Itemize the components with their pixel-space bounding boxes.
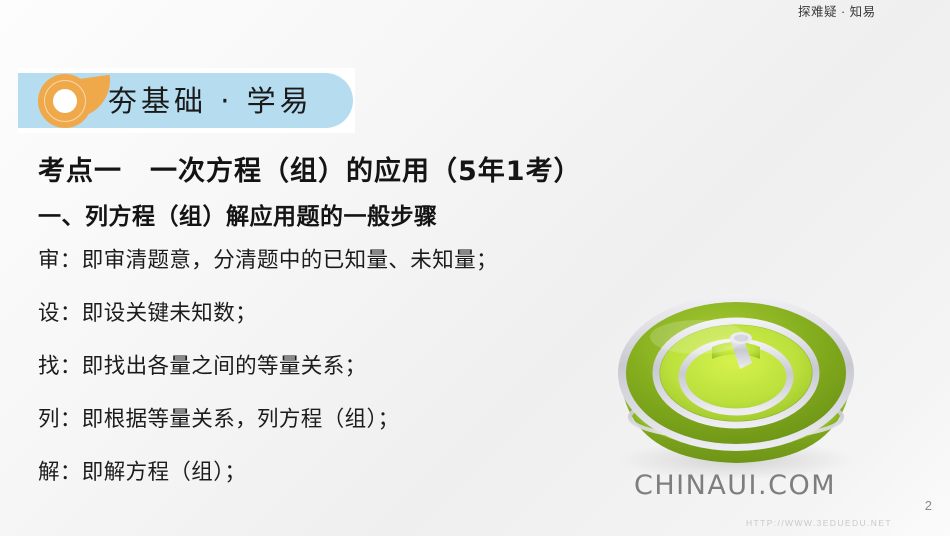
chinaui-caption: CHINAUI.COM	[590, 470, 880, 501]
step-line: 列：即根据等量关系，列方程（组）；	[38, 402, 658, 433]
site-watermark: HTTP://WWW.3EDUEDU.NET	[746, 518, 892, 528]
step-line: 审：即审清题意，分清题中的已知量、未知量；	[38, 243, 658, 274]
banner-marker-hole-icon	[53, 89, 77, 113]
page-title: 考点一 一次方程（组）的应用（5年1考）	[38, 149, 658, 188]
content-body: 考点一 一次方程（组）的应用（5年1考） 一、列方程（组）解应用题的一般步骤 审…	[38, 149, 658, 486]
slide-canvas: 探难疑 · 知易 夯基础 · 学易 考点一 一次方程（组）的应用（5年1考） 一…	[0, 0, 950, 536]
power-button-bowl-icon	[590, 285, 880, 485]
page-number: 2	[925, 498, 932, 513]
step-line: 设：即设关键未知数；	[38, 296, 658, 327]
chinaui-graphic: CHINAUI.COM	[590, 285, 880, 515]
step-line: 找：即找出各量之间的等量关系；	[38, 349, 658, 380]
section-subheading: 一、列方程（组）解应用题的一般步骤	[38, 197, 658, 231]
step-line: 解：即解方程（组）；	[38, 455, 658, 486]
corner-section-label: 探难疑 · 知易	[798, 4, 894, 21]
banner-title: 夯基础 · 学易	[108, 74, 313, 128]
